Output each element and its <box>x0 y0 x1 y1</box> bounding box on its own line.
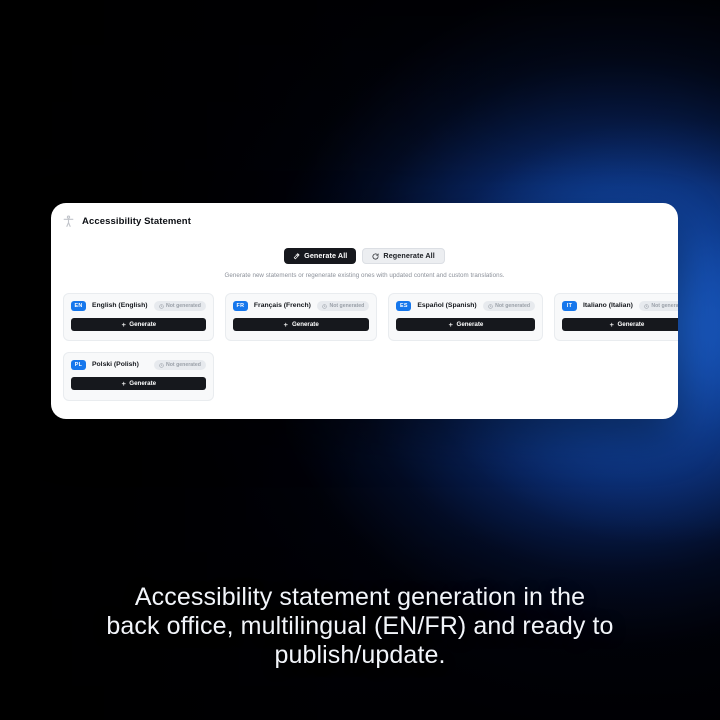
caption: Accessibility statement generation in th… <box>0 583 720 670</box>
status-label: Not generated <box>166 304 201 309</box>
language-code-badge: IT <box>562 301 577 311</box>
status-badge: Not generated <box>483 301 535 311</box>
bulk-action-row: Generate All Regenerate All <box>51 248 678 264</box>
generate-button-pl[interactable]: Generate <box>71 377 206 390</box>
status-label: Not generated <box>651 304 678 309</box>
generate-button-es[interactable]: Generate <box>396 318 535 331</box>
generate-all-button[interactable]: Generate All <box>284 248 356 264</box>
magic-wand-icon <box>293 253 300 260</box>
language-card-header: FR Français (French) Not generated <box>233 301 369 311</box>
accessibility-icon <box>62 215 75 228</box>
generate-button-label: Generate <box>617 322 644 328</box>
generate-button-label: Generate <box>292 322 319 328</box>
language-name: Français (French) <box>254 303 311 310</box>
language-card-it[interactable]: IT Italiano (Italian) Not generated Gene… <box>554 293 678 341</box>
language-card-header: EN English (English) Not generated <box>71 301 206 311</box>
status-label: Not generated <box>166 363 201 368</box>
language-code-badge: EN <box>71 301 86 311</box>
clock-icon <box>644 304 649 309</box>
status-label: Not generated <box>329 304 364 309</box>
plus-icon <box>283 322 289 328</box>
language-name: Español (Spanish) <box>417 303 476 310</box>
generate-button-label: Generate <box>129 381 156 387</box>
accessibility-statement-panel: Accessibility Statement Generate All Reg… <box>51 203 678 419</box>
clock-icon <box>159 304 164 309</box>
generate-all-label: Generate All <box>304 252 347 259</box>
status-badge: Not generated <box>639 301 678 311</box>
language-card-header: IT Italiano (Italian) Not generated <box>562 301 678 311</box>
regenerate-all-label: Regenerate All <box>383 252 434 259</box>
clock-icon <box>322 304 327 309</box>
plus-icon <box>121 381 127 387</box>
caption-line-2: back office, multilingual (EN/FR) and re… <box>60 612 660 641</box>
clock-icon <box>488 304 493 309</box>
caption-line-1: Accessibility statement generation in th… <box>60 583 660 612</box>
generate-button-it[interactable]: Generate <box>562 318 678 331</box>
clock-icon <box>159 363 164 368</box>
language-code-badge: FR <box>233 301 248 311</box>
language-card-header: ES Español (Spanish) Not generated <box>396 301 535 311</box>
language-card-fr[interactable]: FR Français (French) Not generated Gener… <box>225 293 377 341</box>
plus-icon <box>448 322 454 328</box>
language-name: Polski (Polish) <box>92 362 148 369</box>
page-title: Accessibility Statement <box>82 217 191 227</box>
plus-icon <box>121 322 127 328</box>
refresh-icon <box>372 253 379 260</box>
panel-header: Accessibility Statement <box>51 203 678 228</box>
status-badge: Not generated <box>154 360 206 370</box>
language-card-grid: EN English (English) Not generated Gener… <box>51 279 678 401</box>
language-card-header: PL Polski (Polish) Not generated <box>71 360 206 370</box>
status-badge: Not generated <box>317 301 369 311</box>
status-badge: Not generated <box>154 301 206 311</box>
language-card-en[interactable]: EN English (English) Not generated Gener… <box>63 293 214 341</box>
language-code-badge: PL <box>71 360 86 370</box>
generate-button-fr[interactable]: Generate <box>233 318 369 331</box>
language-card-es[interactable]: ES Español (Spanish) Not generated Gener… <box>388 293 543 341</box>
language-name: English (English) <box>92 303 148 310</box>
plus-icon <box>609 322 615 328</box>
status-label: Not generated <box>495 304 530 309</box>
regenerate-all-button[interactable]: Regenerate All <box>362 248 444 264</box>
language-code-badge: ES <box>396 301 411 311</box>
language-card-pl[interactable]: PL Polski (Polish) Not generated Generat… <box>63 352 214 400</box>
caption-line-3: publish/update. <box>60 641 660 670</box>
generate-button-label: Generate <box>457 322 484 328</box>
generate-button-en[interactable]: Generate <box>71 318 206 331</box>
language-name: Italiano (Italian) <box>583 303 633 310</box>
generate-button-label: Generate <box>129 322 156 328</box>
